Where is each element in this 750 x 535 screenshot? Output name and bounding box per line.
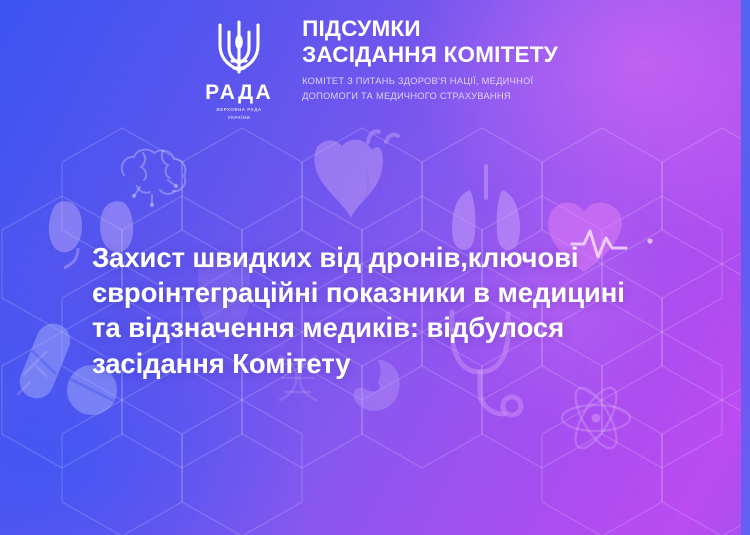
card-header: РАДА ВЕРХОВНА РАДА УКРАЇНИ ПІДСУМКИ ЗАСІ… [0,0,750,120]
headline-line-3: та відзначення медиків: відбулося [92,310,702,345]
logo-subline-1: ВЕРХОВНА РАДА [217,107,262,114]
anatomical-heart-icon [314,131,398,218]
syringe-icon [18,352,46,394]
logo-subline-2: УКРАЇНИ [228,115,251,122]
headline-line-2: євроінтеграційні показники в медицині [92,275,702,310]
headline-line-4: засідання Комітету [92,346,702,381]
header-title-block: ПІДСУМКИ ЗАСІДАННЯ КОМІТЕТУ КОМІТЕТ З ПИ… [302,14,558,104]
announcement-card: РАДА ВЕРХОВНА РАДА УКРАЇНИ ПІДСУМКИ ЗАСІ… [0,0,750,535]
logo-wordmark: РАДА [205,82,273,103]
verkhovna-rada-logo: РАДА ВЕРХОВНА РАДА УКРАЇНИ [192,14,286,121]
header-title-line-2: ЗАСІДАННЯ КОМІТЕТУ [302,42,558,68]
header-subtitle-line-2: ДОПОМОГИ ТА МЕДИЧНОГО СТРАХУВАННЯ [302,89,558,104]
lungs-icon [452,164,520,250]
atom-icon [562,382,630,454]
header-subtitle-line-1: КОМІТЕТ З ПИТАНЬ ЗДОРОВ'Я НАЦІЇ, МЕДИЧНО… [302,74,558,89]
brain-icon [122,150,186,208]
heart-vessels [364,168,390,199]
headline: Захист швидких від дронів,ключові євроін… [92,240,702,381]
headline-line-1: Захист швидких від дронів,ключові [92,240,702,275]
ukrainian-trident-tryzub-icon [211,16,267,78]
header-title-line-1: ПІДСУМКИ [302,16,558,42]
